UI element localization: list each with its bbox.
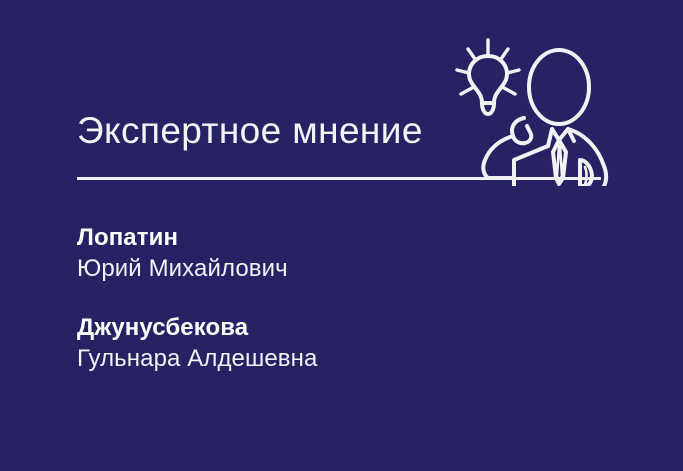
expert-fullname: Гульнара Алдешевна [77, 343, 497, 375]
expert-person-with-idea-illustration [452, 28, 624, 186]
person-head [529, 50, 589, 124]
person-left-body [488, 178, 514, 186]
lightbulb-icon [469, 56, 507, 114]
list-item: Лопатин Юрий Михайлович [77, 222, 497, 285]
person-raised-forearm [483, 136, 513, 178]
slide-root: Экспертное мнение Лопатин Юрий Михайлови… [0, 0, 683, 471]
person-left-torso [514, 146, 548, 178]
experts-list: Лопатин Юрий Михайлович Джунусбекова Гул… [77, 222, 497, 375]
person-raised-arm [512, 118, 531, 143]
list-item: Джунусбекова Гульнара Алдешевна [77, 312, 497, 375]
idea-rays [457, 40, 519, 94]
expert-surname: Джунусбекова [77, 312, 497, 343]
person-hand-thumb [585, 167, 587, 185]
expert-surname: Лопатин [77, 222, 497, 253]
expert-fullname: Юрий Михайлович [77, 253, 497, 285]
person-necktie-fold [557, 146, 562, 181]
